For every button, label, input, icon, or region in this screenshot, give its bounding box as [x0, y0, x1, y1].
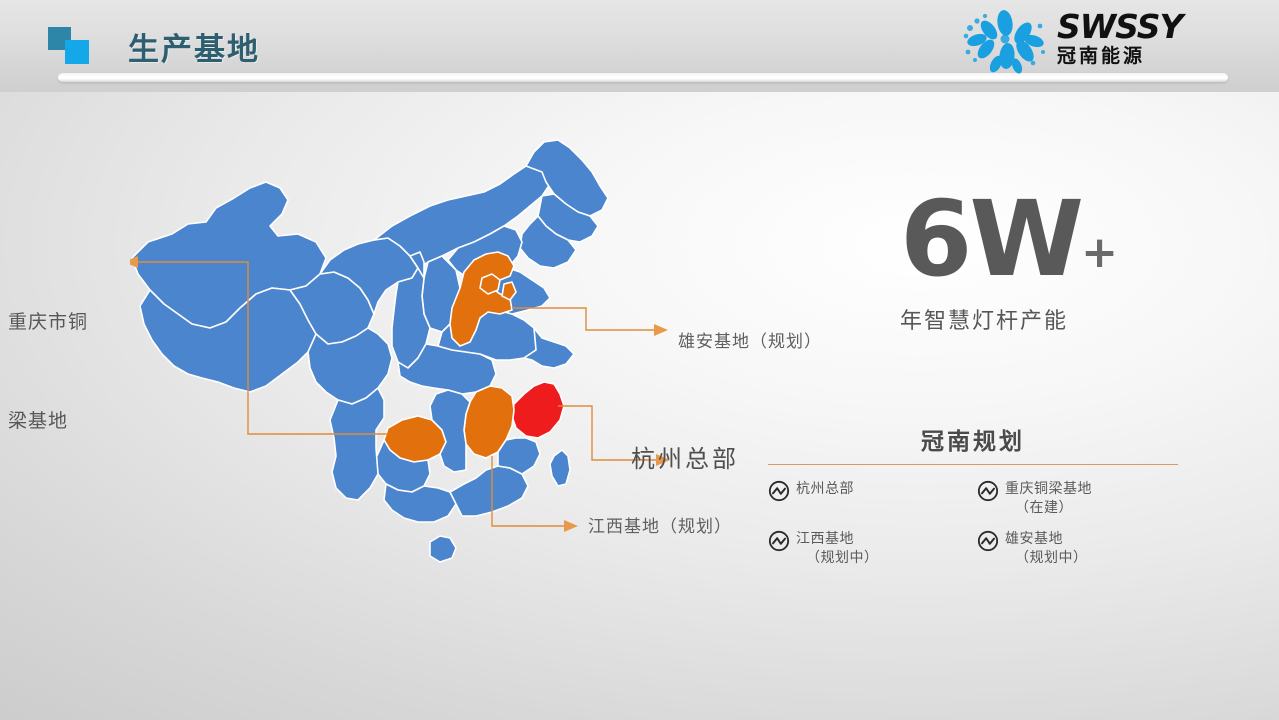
- city-beijing: [480, 274, 500, 294]
- stat-caption: 年智慧灯杆产能: [900, 303, 1200, 335]
- slide-header: 生产基地: [0, 0, 1279, 92]
- plan-item-line1: 重庆铜梁基地: [1005, 480, 1092, 496]
- callout-xiongan: 雄安基地（规划）: [678, 327, 822, 357]
- header-divider: [58, 73, 1228, 82]
- stat-number-row: 6W+: [900, 190, 1200, 289]
- plan-item-jiangxi[interactable]: 江西基地 （规划中）: [768, 529, 969, 567]
- china-map: [130, 138, 670, 568]
- plan-item-line1: 杭州总部: [796, 480, 854, 496]
- plan-item-line2: （在建）: [1005, 498, 1092, 517]
- plan-item-chongqing-tongliang[interactable]: 重庆铜梁基地 （在建）: [977, 479, 1178, 517]
- province-guangxi: [384, 484, 456, 522]
- callout-hangzhou: 杭州总部: [631, 445, 739, 475]
- callout-chongqing-line1: 重庆市铜: [8, 306, 88, 339]
- plan-item-grid: 杭州总部 重庆铜梁基地 （在建）: [768, 479, 1178, 567]
- swssy-floral-droplet-logo-icon: [955, 8, 1051, 74]
- callout-jiangxi: 江西基地（规划）: [588, 512, 732, 542]
- plan-title: 冠南规划: [768, 422, 1178, 456]
- china-map-svg: [130, 138, 670, 568]
- plan-item-xiongan[interactable]: 雄安基地 （规划中）: [977, 529, 1178, 567]
- callout-chongqing: 重庆市铜 梁基地: [8, 240, 88, 504]
- logo-text-block: SWSSY 冠南能源: [1057, 10, 1182, 66]
- plan-item-text: 重庆铜梁基地 （在建）: [1005, 479, 1092, 517]
- activity-circle-icon: [768, 480, 790, 502]
- stat-plus-sign: +: [1081, 227, 1118, 278]
- province-guangdong: [450, 466, 528, 516]
- decor-square-light-icon: [65, 40, 89, 64]
- plan-item-text: 雄安基地 （规划中）: [1005, 529, 1088, 567]
- callout-chongqing-line2: 梁基地: [8, 405, 88, 438]
- slide-canvas: 生产基地: [0, 0, 1279, 720]
- plan-item-line1: 雄安基地: [1005, 530, 1063, 546]
- plan-panel: 冠南规划 杭州总部 重庆铜梁基地 （在: [768, 422, 1178, 567]
- company-logo: SWSSY 冠南能源: [955, 8, 1215, 74]
- plan-item-hangzhou[interactable]: 杭州总部: [768, 479, 969, 517]
- logo-wordmark: SWSSY: [1057, 10, 1182, 43]
- plan-item-text: 杭州总部: [796, 479, 854, 498]
- activity-circle-icon: [977, 480, 999, 502]
- province-taiwan: [550, 450, 570, 486]
- capacity-stat-block: 6W+ 年智慧灯杆产能: [900, 190, 1200, 335]
- province-hainan: [430, 536, 456, 562]
- activity-circle-icon: [768, 530, 790, 552]
- page-title: 生产基地: [128, 24, 260, 69]
- plan-item-line2: （规划中）: [1005, 548, 1088, 567]
- plan-item-line1: 江西基地: [796, 530, 854, 546]
- plan-item-text: 江西基地 （规划中）: [796, 529, 879, 567]
- province-yunnan: [330, 388, 384, 500]
- province-zhejiang-highlight: [512, 382, 564, 438]
- activity-circle-icon: [977, 530, 999, 552]
- logo-subtitle: 冠南能源: [1057, 47, 1182, 66]
- stat-number: 6W: [900, 190, 1081, 289]
- plan-item-line2: （规划中）: [796, 548, 879, 567]
- plan-title-rule: [768, 464, 1178, 465]
